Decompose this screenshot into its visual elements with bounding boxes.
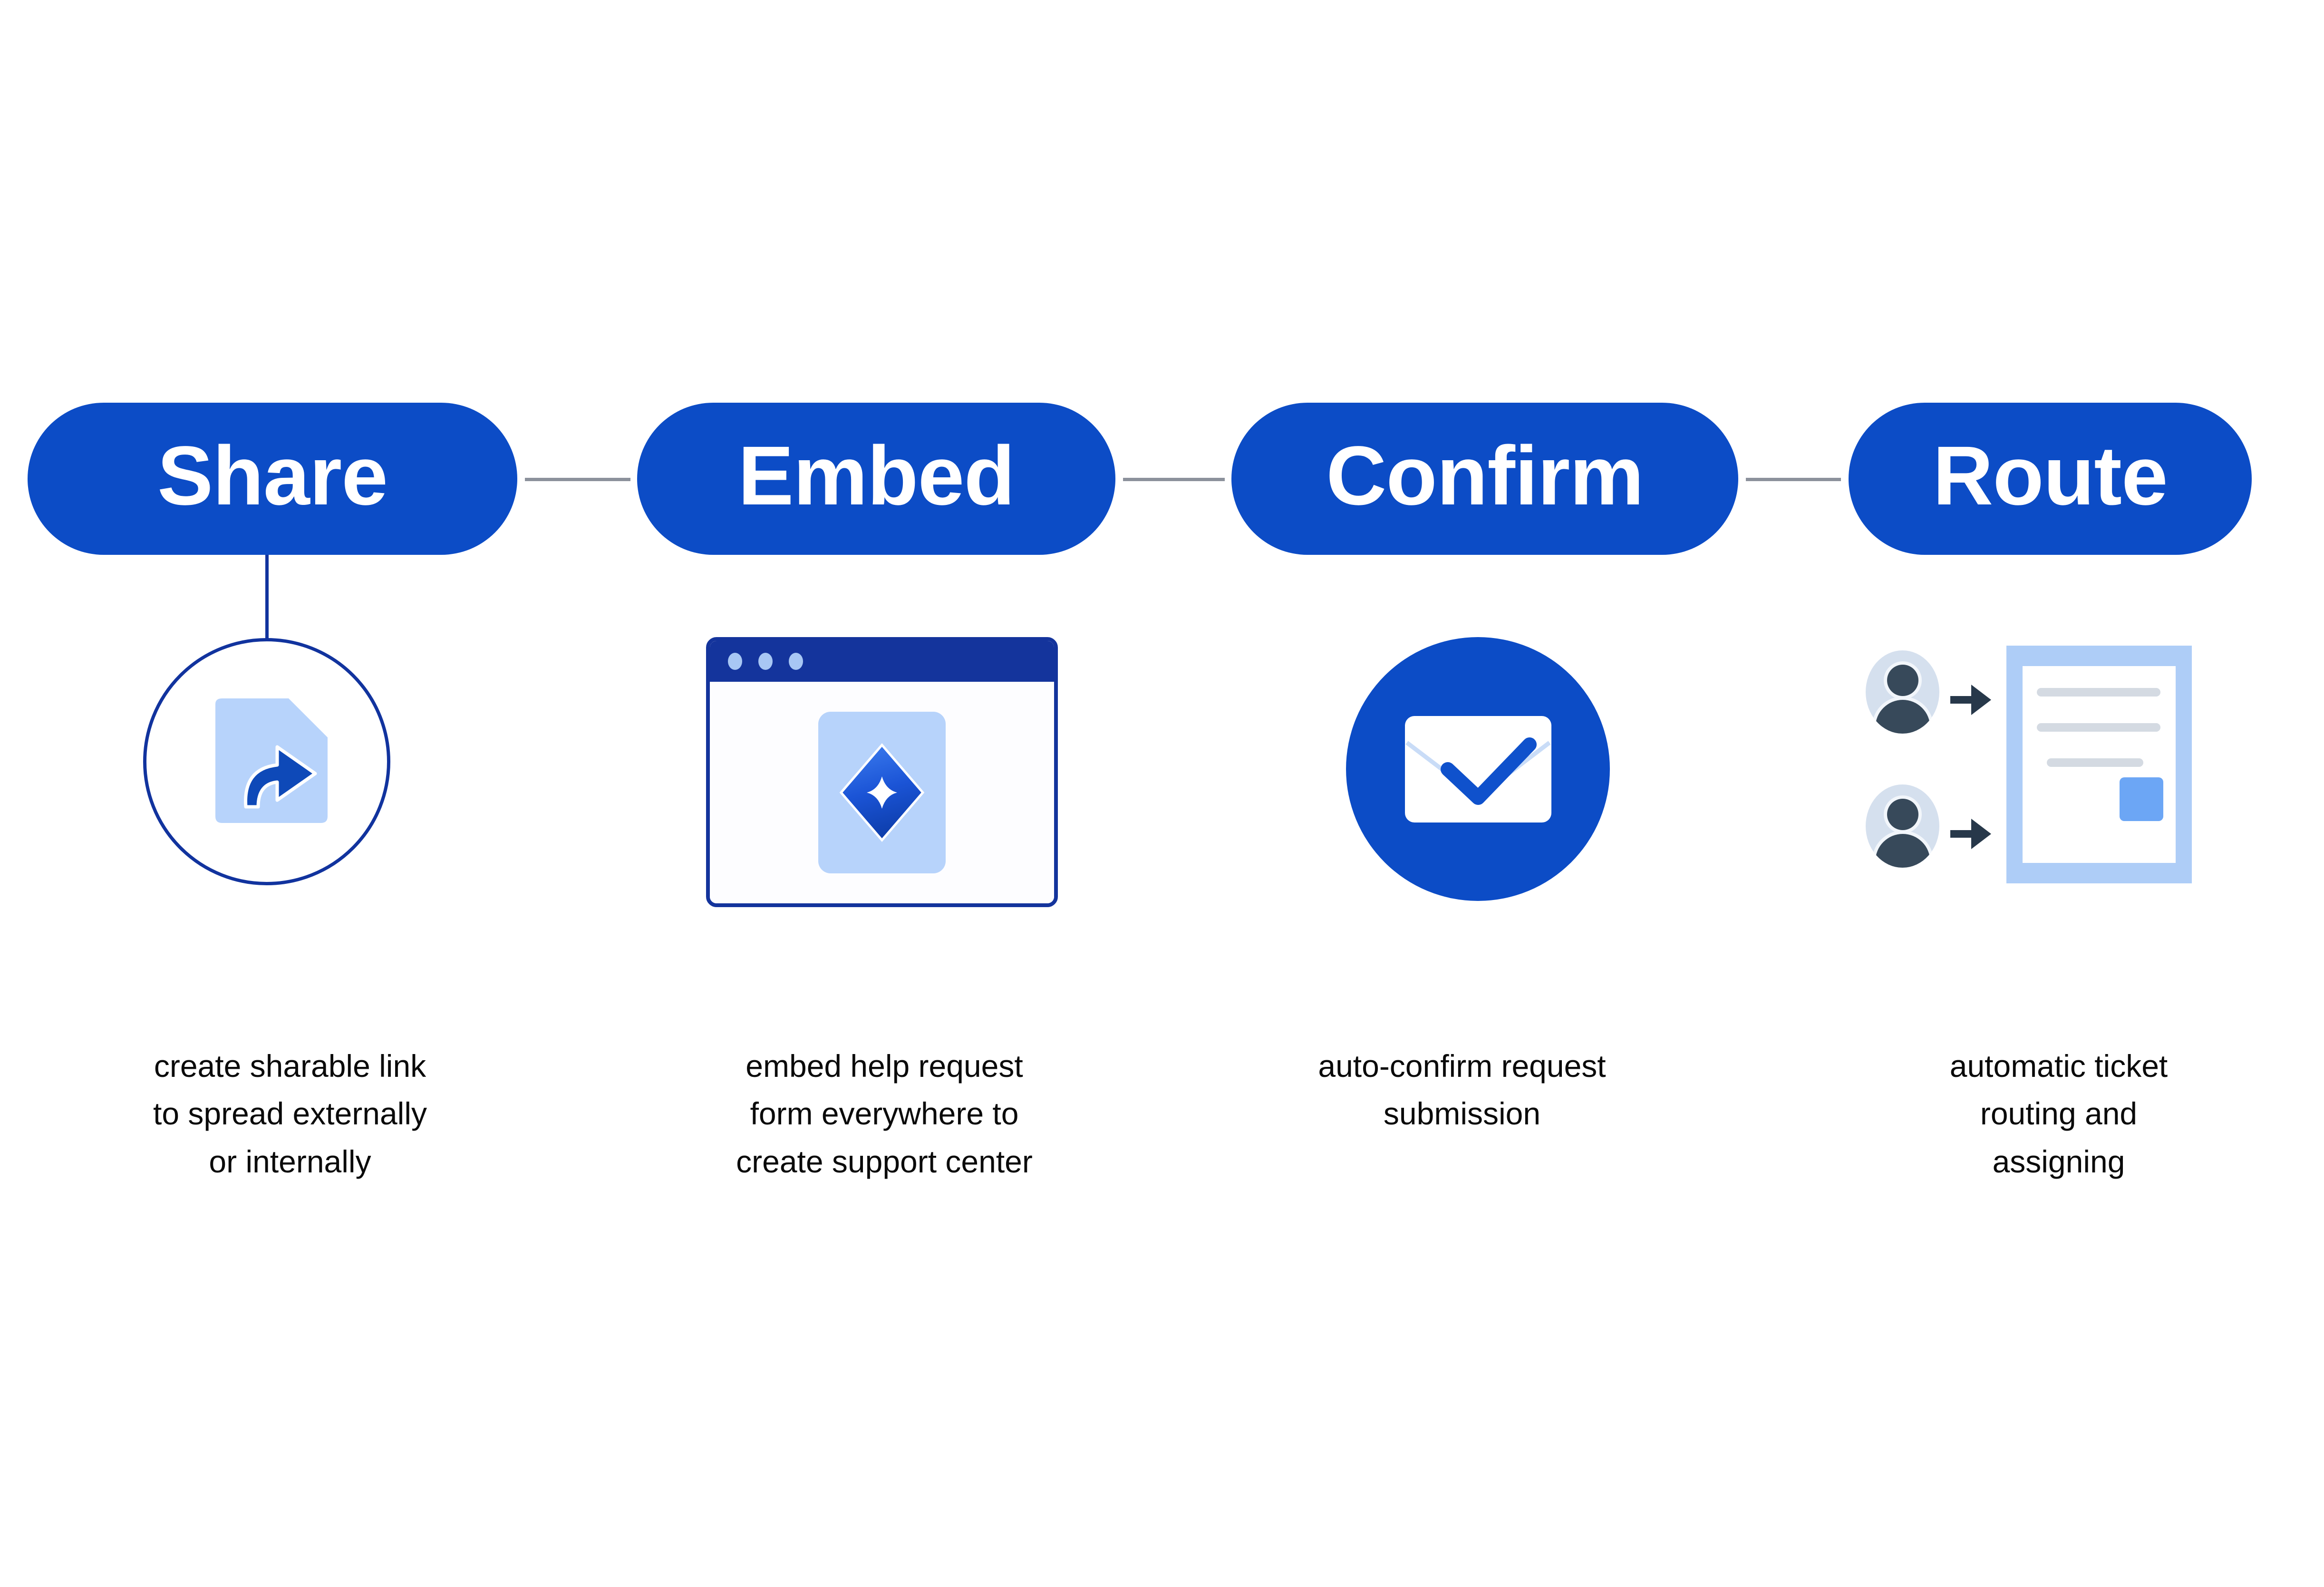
ticket-text-line xyxy=(2047,758,2143,767)
step-caption-embed: embed help request form everywhere to cr… xyxy=(637,1042,1132,1185)
ticket-document-page xyxy=(2023,666,2176,863)
caption-line: embed help request xyxy=(637,1042,1132,1090)
step-pill-embed[interactable]: Embed xyxy=(637,403,1115,555)
caption-line: create support center xyxy=(637,1138,1132,1185)
caption-line: submission xyxy=(1217,1090,1707,1137)
avatar-body-icon xyxy=(1875,700,1930,734)
step-pill-share[interactable]: Share xyxy=(28,403,517,555)
step-pill-label-share: Share xyxy=(157,434,387,518)
caption-line: routing and xyxy=(1826,1090,2292,1137)
caption-line: create sharable link xyxy=(52,1042,528,1090)
confirm-icon-circle xyxy=(1346,637,1610,901)
browser-dot-close-icon xyxy=(728,653,742,670)
sparkle-diamond-icon xyxy=(834,740,930,845)
route-arrow-top-icon xyxy=(1950,685,1991,715)
step-pill-label-embed: Embed xyxy=(738,434,1015,518)
caption-line: assigning xyxy=(1826,1138,2292,1185)
connector-share-to-embed xyxy=(525,478,630,481)
embed-form-tile xyxy=(818,712,946,873)
browser-dot-maximize-icon xyxy=(789,653,803,670)
connector-share-to-icon xyxy=(265,555,269,640)
process-flow-diagram: Share Embed Confirm Route xyxy=(0,0,2324,1587)
connector-confirm-to-route xyxy=(1746,478,1841,481)
ticket-document-icon xyxy=(2006,646,2192,883)
connector-embed-to-confirm xyxy=(1123,478,1225,481)
route-arrow-bottom-icon xyxy=(1950,819,1991,849)
browser-content-area xyxy=(710,682,1054,903)
browser-title-bar xyxy=(710,641,1054,682)
avatar-body-icon xyxy=(1875,834,1930,868)
caption-line: auto-confirm request xyxy=(1217,1042,1707,1090)
caption-line: automatic ticket xyxy=(1826,1042,2292,1090)
avatar-requester-bottom xyxy=(1866,784,1939,868)
step-pill-label-route: Route xyxy=(1933,434,2168,518)
step-pill-confirm[interactable]: Confirm xyxy=(1231,403,1738,555)
avatar-requester-top xyxy=(1866,650,1939,734)
envelope-check-icon xyxy=(1402,713,1554,825)
ticket-text-line xyxy=(2037,688,2160,697)
avatar-head-icon xyxy=(1887,799,1918,830)
step-caption-share: create sharable link to spread externall… xyxy=(52,1042,528,1185)
ticket-accent-square xyxy=(2120,777,2163,821)
caption-line: or internally xyxy=(52,1138,528,1185)
step-icon-row xyxy=(0,632,2324,908)
share-document-glyph xyxy=(205,697,329,827)
step-caption-confirm: auto-confirm request submission xyxy=(1217,1042,1707,1138)
avatar-head-icon xyxy=(1887,665,1918,696)
step-pill-label-confirm: Confirm xyxy=(1326,434,1644,518)
step-caption-route: automatic ticket routing and assigning xyxy=(1826,1042,2292,1185)
step-pill-route[interactable]: Route xyxy=(1849,403,2252,555)
browser-dot-minimize-icon xyxy=(758,653,773,670)
embed-browser-window-icon xyxy=(706,637,1058,907)
share-icon-circle xyxy=(143,638,390,885)
caption-line: to spread externally xyxy=(52,1090,528,1137)
route-icon-group xyxy=(1864,632,2244,908)
share-document-icon xyxy=(205,697,329,826)
caption-line: form everywhere to xyxy=(637,1090,1132,1137)
ticket-text-line xyxy=(2037,723,2160,732)
